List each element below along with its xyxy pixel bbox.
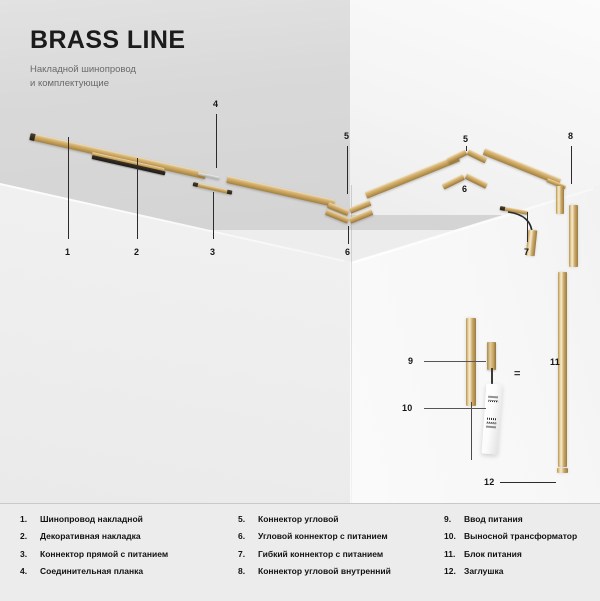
- callout-line-2: [137, 158, 138, 239]
- legend-item-number: 10.: [444, 532, 464, 542]
- legend-item: 5. Коннектор угловой: [238, 515, 444, 525]
- callout-number-8: 8: [568, 132, 573, 141]
- legend-item-number: 9.: [444, 515, 464, 525]
- callout-line-3: [213, 192, 214, 239]
- legend-item-label: Блок питания: [464, 550, 522, 560]
- legend-item-number: 7.: [238, 550, 258, 560]
- callout-number-4: 4: [213, 100, 218, 109]
- subtitle-line-2: и комплектующие: [30, 77, 185, 91]
- legend-item-number: 1.: [20, 515, 40, 525]
- legend-item-number: 12.: [444, 567, 464, 577]
- equals-symbol: =: [514, 368, 520, 380]
- legend-columns: 1. Шинопровод накладной 2. Декоративная …: [0, 515, 600, 584]
- legend-item-label: Гибкий коннектор с питанием: [258, 550, 383, 560]
- callout-number-11: 11: [550, 358, 560, 367]
- legend-item: 6. Угловой коннектор с питанием: [238, 532, 444, 542]
- vertical-rail-b-lead: [471, 402, 472, 460]
- scene-illustration: = 1 2 3 4 5 5 6 6 7 8 9 10: [0, 0, 600, 503]
- callout-number-5b: 5: [463, 135, 468, 144]
- legend-item: 8. Коннектор угловой внутренний: [238, 567, 444, 577]
- legend-item: 1. Шинопровод накладной: [20, 515, 238, 525]
- transformer-fins-5: [486, 426, 496, 429]
- legend-item-label: Соединительная планка: [40, 567, 143, 577]
- legend-item-label: Ввод питания: [464, 515, 523, 525]
- page-title: BRASS LINE: [30, 28, 185, 53]
- legend-item: 2. Декоративная накладка: [20, 532, 238, 542]
- legend-column-3: 9. Ввод питания 10. Выносной трансформат…: [444, 515, 600, 584]
- subtitle-line-1: Накладной шинопровод: [30, 63, 185, 77]
- callout-number-6b: 6: [462, 185, 467, 194]
- legend-item-number: 6.: [238, 532, 258, 542]
- vertical-rail-a: [569, 205, 578, 267]
- callout-number-5a: 5: [344, 132, 349, 141]
- chev-6b-right: [465, 173, 488, 188]
- transformer-fins-2: [488, 400, 498, 403]
- legend-item: 11. Блок питания: [444, 550, 600, 560]
- callout-line-9: [424, 361, 486, 362]
- legend-item-number: 2.: [20, 532, 40, 542]
- callout-number-9: 9: [408, 357, 413, 366]
- legend-item: 12. Заглушка: [444, 567, 600, 577]
- callout-number-7: 7: [524, 248, 529, 257]
- page-subtitle: Накладной шинопровод и комплектующие: [30, 63, 185, 91]
- transformer-fins-4: [487, 422, 497, 425]
- vertical-rail-b: [466, 318, 476, 406]
- callout-number-10: 10: [402, 404, 412, 413]
- legend-item: 4. Соединительная планка: [20, 567, 238, 577]
- callout-line-5b: [466, 146, 467, 151]
- legend-item: 3. Коннектор прямой с питанием: [20, 550, 238, 560]
- legend-item-number: 4.: [20, 567, 40, 577]
- transformer-fins-3: [487, 418, 497, 421]
- legend-item-label: Коннектор угловой: [258, 515, 339, 525]
- rail-end-cap-left: [29, 133, 35, 141]
- chev-6a-lower-right: [349, 209, 374, 224]
- transformer-fins-1: [488, 396, 498, 399]
- callout-line-7: [527, 212, 528, 242]
- callout-number-2: 2: [134, 248, 139, 257]
- callout-number-6a: 6: [345, 248, 350, 257]
- legend-item-label: Коннектор прямой с питанием: [40, 550, 168, 560]
- callout-line-5a: [347, 146, 348, 194]
- legend-item-label: Заглушка: [464, 567, 503, 577]
- product-diagram-page: = 1 2 3 4 5 5 6 6 7 8 9 10: [0, 0, 600, 600]
- corner-power-connector-6a-lower: [326, 209, 374, 229]
- vertical-rail-c: [558, 272, 567, 467]
- callout-line-6a: [348, 226, 349, 244]
- legend-item-number: 5.: [238, 515, 258, 525]
- callout-number-3: 3: [210, 248, 215, 257]
- callout-line-4: [216, 114, 217, 168]
- legend-item-label: Шинопровод накладной: [40, 515, 143, 525]
- power-feed-9: [487, 342, 496, 370]
- callout-line-1: [68, 137, 69, 239]
- callout-line-12: [500, 482, 556, 483]
- chev-5b-left: [447, 150, 468, 164]
- callout-line-8: [571, 146, 572, 184]
- legend-item-label: Выносной трансформатор: [464, 532, 577, 542]
- legend-item: 7. Гибкий коннектор с питанием: [238, 550, 444, 560]
- legend-item-label: Декоративная накладка: [40, 532, 141, 542]
- end-cap-12: [557, 468, 568, 473]
- callout-number-1: 1: [65, 248, 70, 257]
- legend-item-number: 11.: [444, 550, 464, 560]
- legend-column-1: 1. Шинопровод накладной 2. Декоративная …: [0, 515, 238, 584]
- legend-item: 10. Выносной трансформатор: [444, 532, 600, 542]
- legend-column-2: 5. Коннектор угловой 6. Угловой коннекто…: [238, 515, 444, 584]
- callout-line-10: [424, 408, 486, 409]
- legend-item-label: Угловой коннектор с питанием: [258, 532, 388, 542]
- legend-item-number: 8.: [238, 567, 258, 577]
- corner-connector-5b: [448, 148, 488, 168]
- wall-corner-seam: [351, 185, 352, 503]
- connector-3-cap-left: [193, 182, 199, 187]
- legend-item-label: Коннектор угловой внутренний: [258, 567, 391, 577]
- callout-number-12: 12: [484, 478, 494, 487]
- connector-3-cap-right: [227, 190, 233, 195]
- legend-panel: 1. Шинопровод накладной 2. Декоративная …: [0, 503, 600, 601]
- legend-item-number: 3.: [20, 550, 40, 560]
- header-block: BRASS LINE Накладной шинопровод и компле…: [30, 28, 185, 91]
- legend-item: 9. Ввод питания: [444, 515, 600, 525]
- chev-6a-lower-left: [325, 209, 350, 224]
